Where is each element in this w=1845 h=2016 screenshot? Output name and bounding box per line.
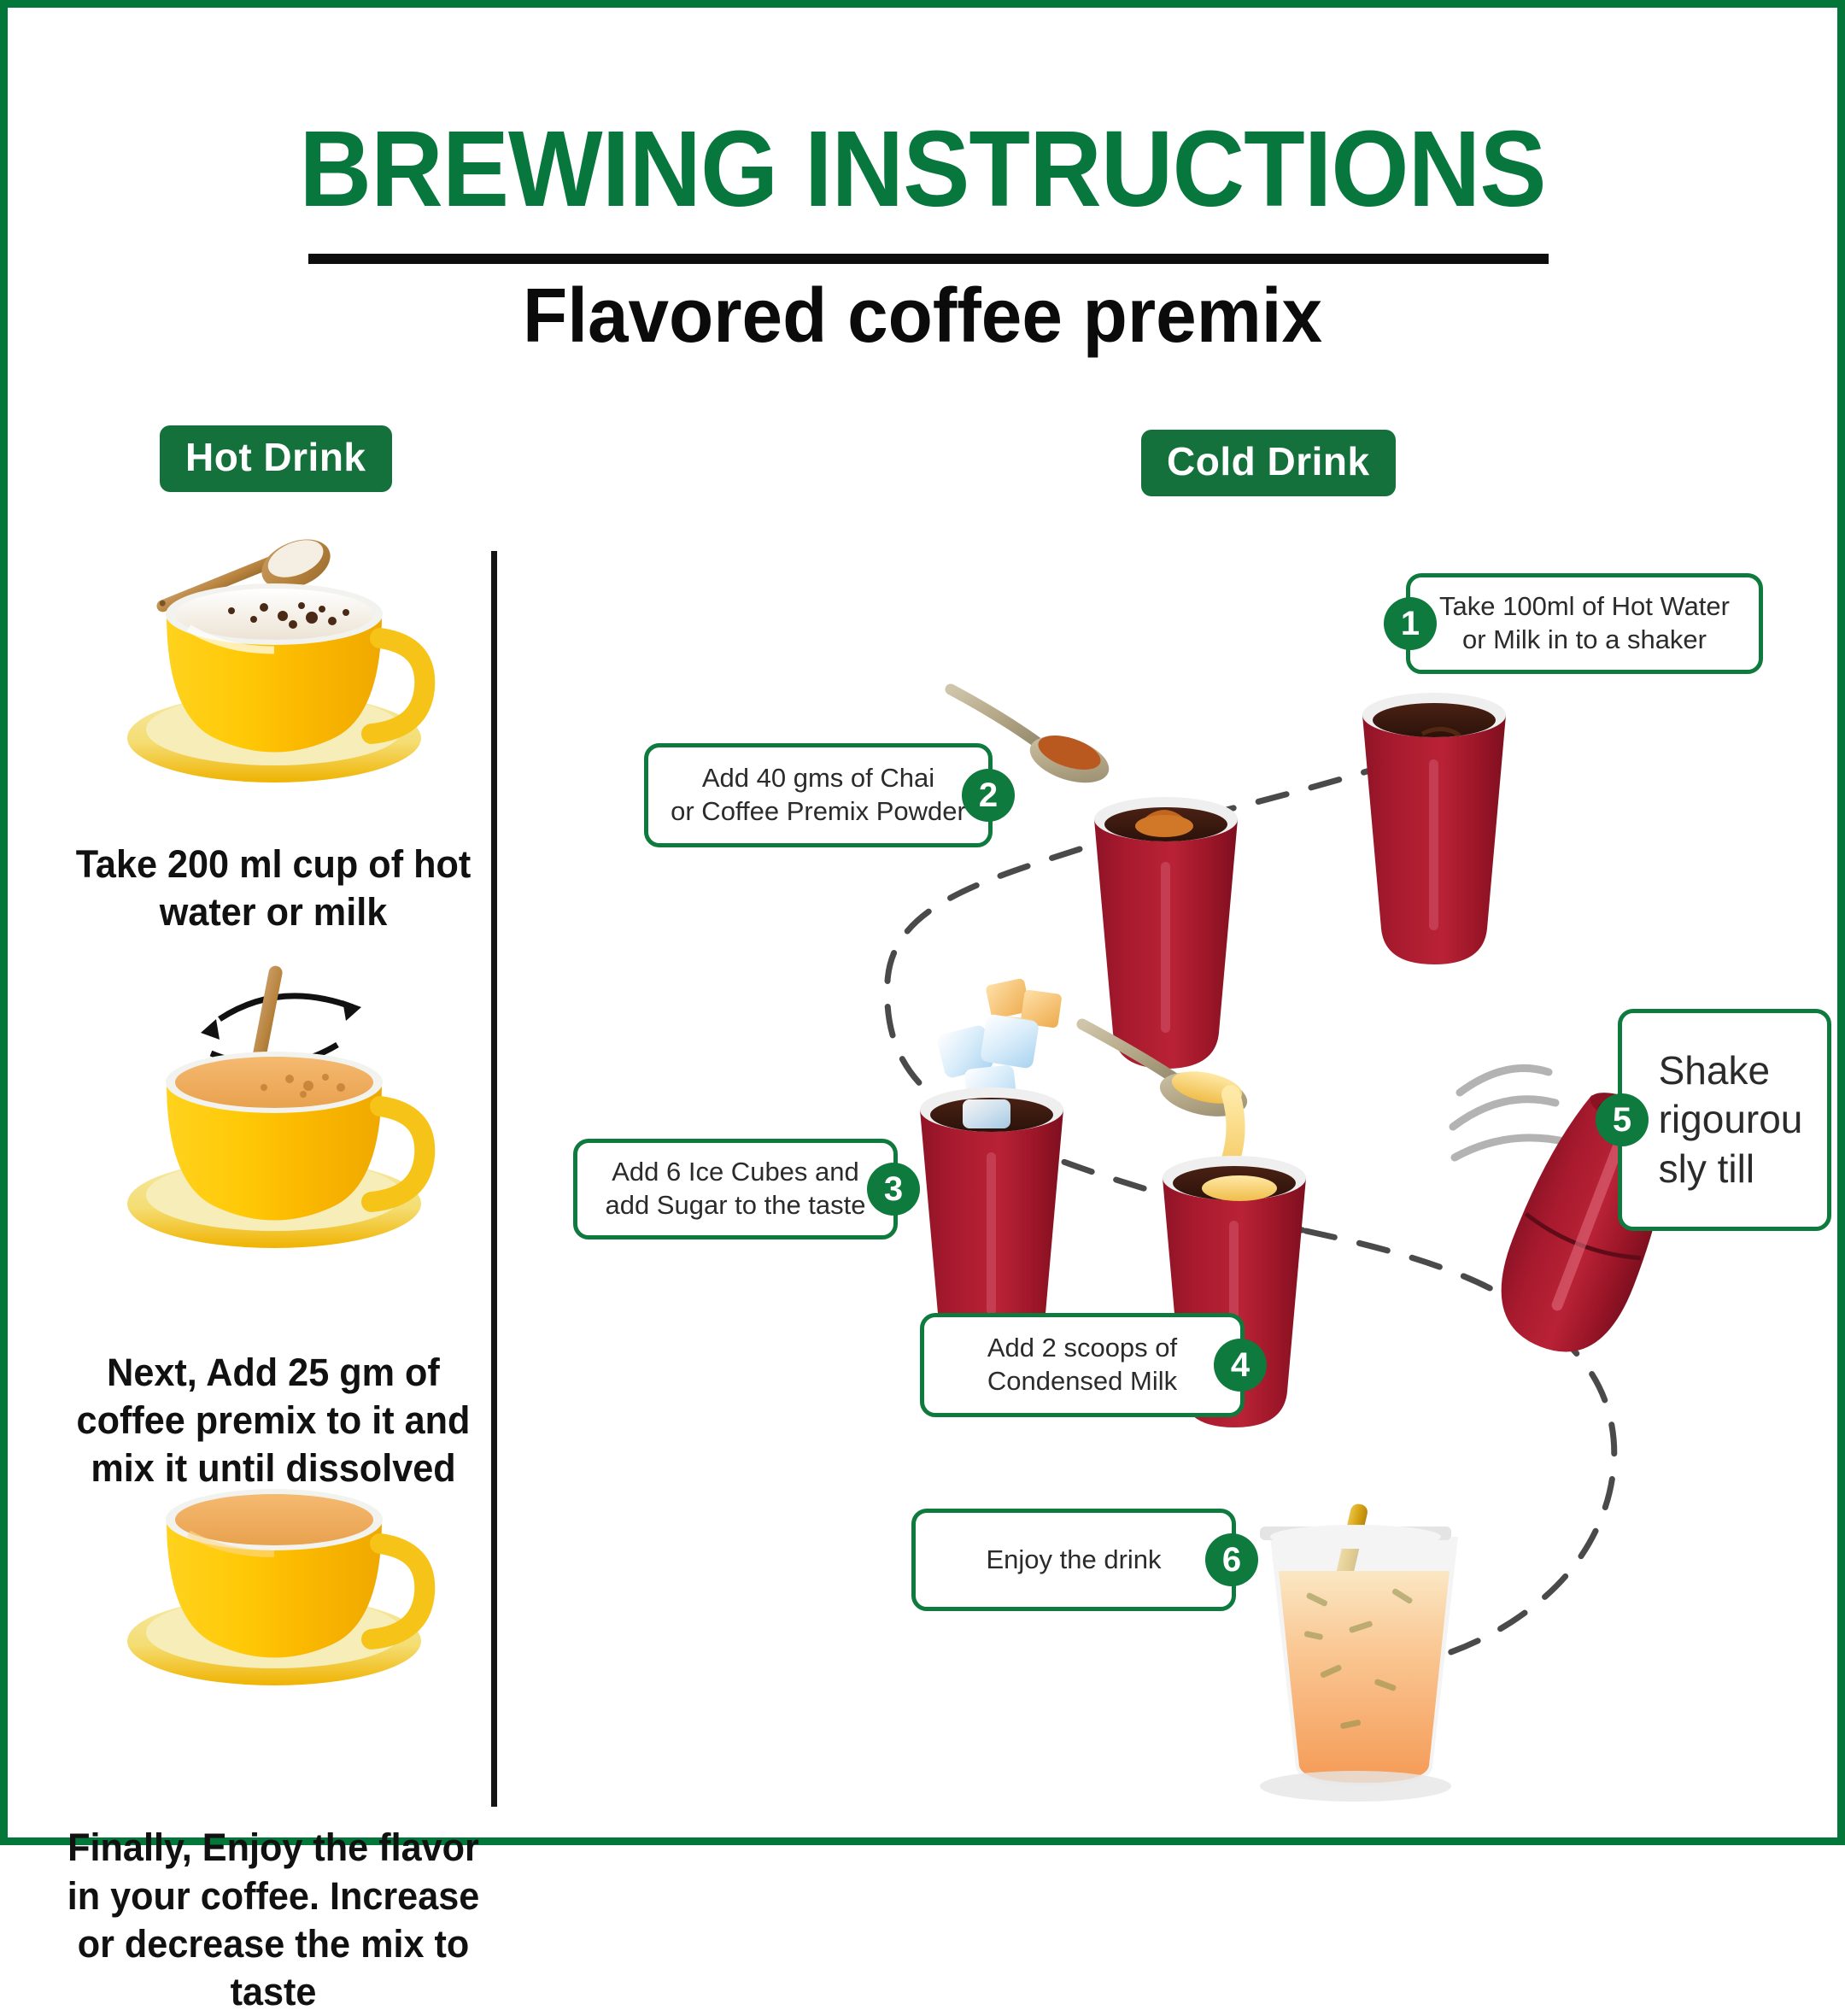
cold-step-4-number: 4 [1214,1339,1267,1392]
column-divider [491,551,497,1807]
hot-step-2-image-slot [56,937,491,1296]
cold-step-2-text: Add 40 gms of Chai or Coffee Premix Powd… [648,750,988,841]
hot-step-3: Finally, Enjoy the flavor in your coffee… [56,1492,491,2016]
cold-step-1-text: Take 100ml of Hot Water or Milk in to a … [1417,578,1752,669]
hot-drink-column: Take 200 ml cup of hot water or milk Nex… [56,486,491,2016]
hot-step-2: Next, Add 25 gm of coffee premix to it a… [56,937,491,1493]
hot-step-1-image-slot [56,486,491,742]
cold-step-4-text: Add 2 scoops of Condensed Milk [965,1320,1199,1410]
title-underline [308,254,1549,264]
cold-step-2-number: 2 [962,769,1015,822]
page-title: BREWING INSTRUCTIONS [72,115,1773,223]
cold-step-1-illustration [1362,693,1506,964]
cold-step-3-illustration [920,978,1063,1359]
hot-step-3-caption: Finally, Enjoy the flavor in your coffee… [64,1824,483,2016]
cold-step-4-callout: Add 2 scoops of Condensed Milk 4 [920,1313,1245,1417]
hot-step-2-caption: Next, Add 25 gm of coffee premix to it a… [64,1349,483,1493]
cold-step-5-number: 5 [1596,1093,1649,1146]
cold-step-2-callout: Add 40 gms of Chai or Coffee Premix Powd… [644,743,993,847]
cold-step-6-callout: Enjoy the drink 6 [911,1509,1236,1611]
cold-step-3-callout: Add 6 Ice Cubes and add Sugar to the tas… [573,1139,898,1239]
page-subtitle: Flavored coffee premix [54,274,1792,359]
cold-step-6-number: 6 [1205,1533,1258,1586]
cold-step-3-number: 3 [867,1163,920,1216]
cold-step-5-text: Shake rigourou sly till [1625,1034,1825,1206]
cold-step-1-callout: 1 Take 100ml of Hot Water or Milk in to … [1406,573,1763,674]
cold-step-2-illustration [951,689,1238,1069]
hot-step-1: Take 200 ml cup of hot water or milk [56,486,491,937]
sugar-cubes-icon [985,978,1062,1052]
cold-step-3-text: Add 6 Ice Cubes and add Sugar to the tas… [583,1144,887,1234]
cold-step-5-callout: 5 Shake rigourou sly till [1618,1009,1831,1231]
hot-drink-badge: Hot Drink [160,425,392,492]
ice-cubes-icon [936,1013,1040,1151]
hot-step-3-image-slot [56,1492,491,1774]
cold-step-6-illustration [1260,1503,1458,1802]
brewing-instructions-poster: BREWING INSTRUCTIONS Flavored coffee pre… [0,0,1845,1845]
cold-drink-badge: Cold Drink [1141,430,1396,496]
cold-step-1-number: 1 [1384,597,1437,650]
hot-step-1-caption: Take 200 ml cup of hot water or milk [64,841,483,937]
cold-step-6-text: Enjoy the drink [963,1532,1183,1589]
